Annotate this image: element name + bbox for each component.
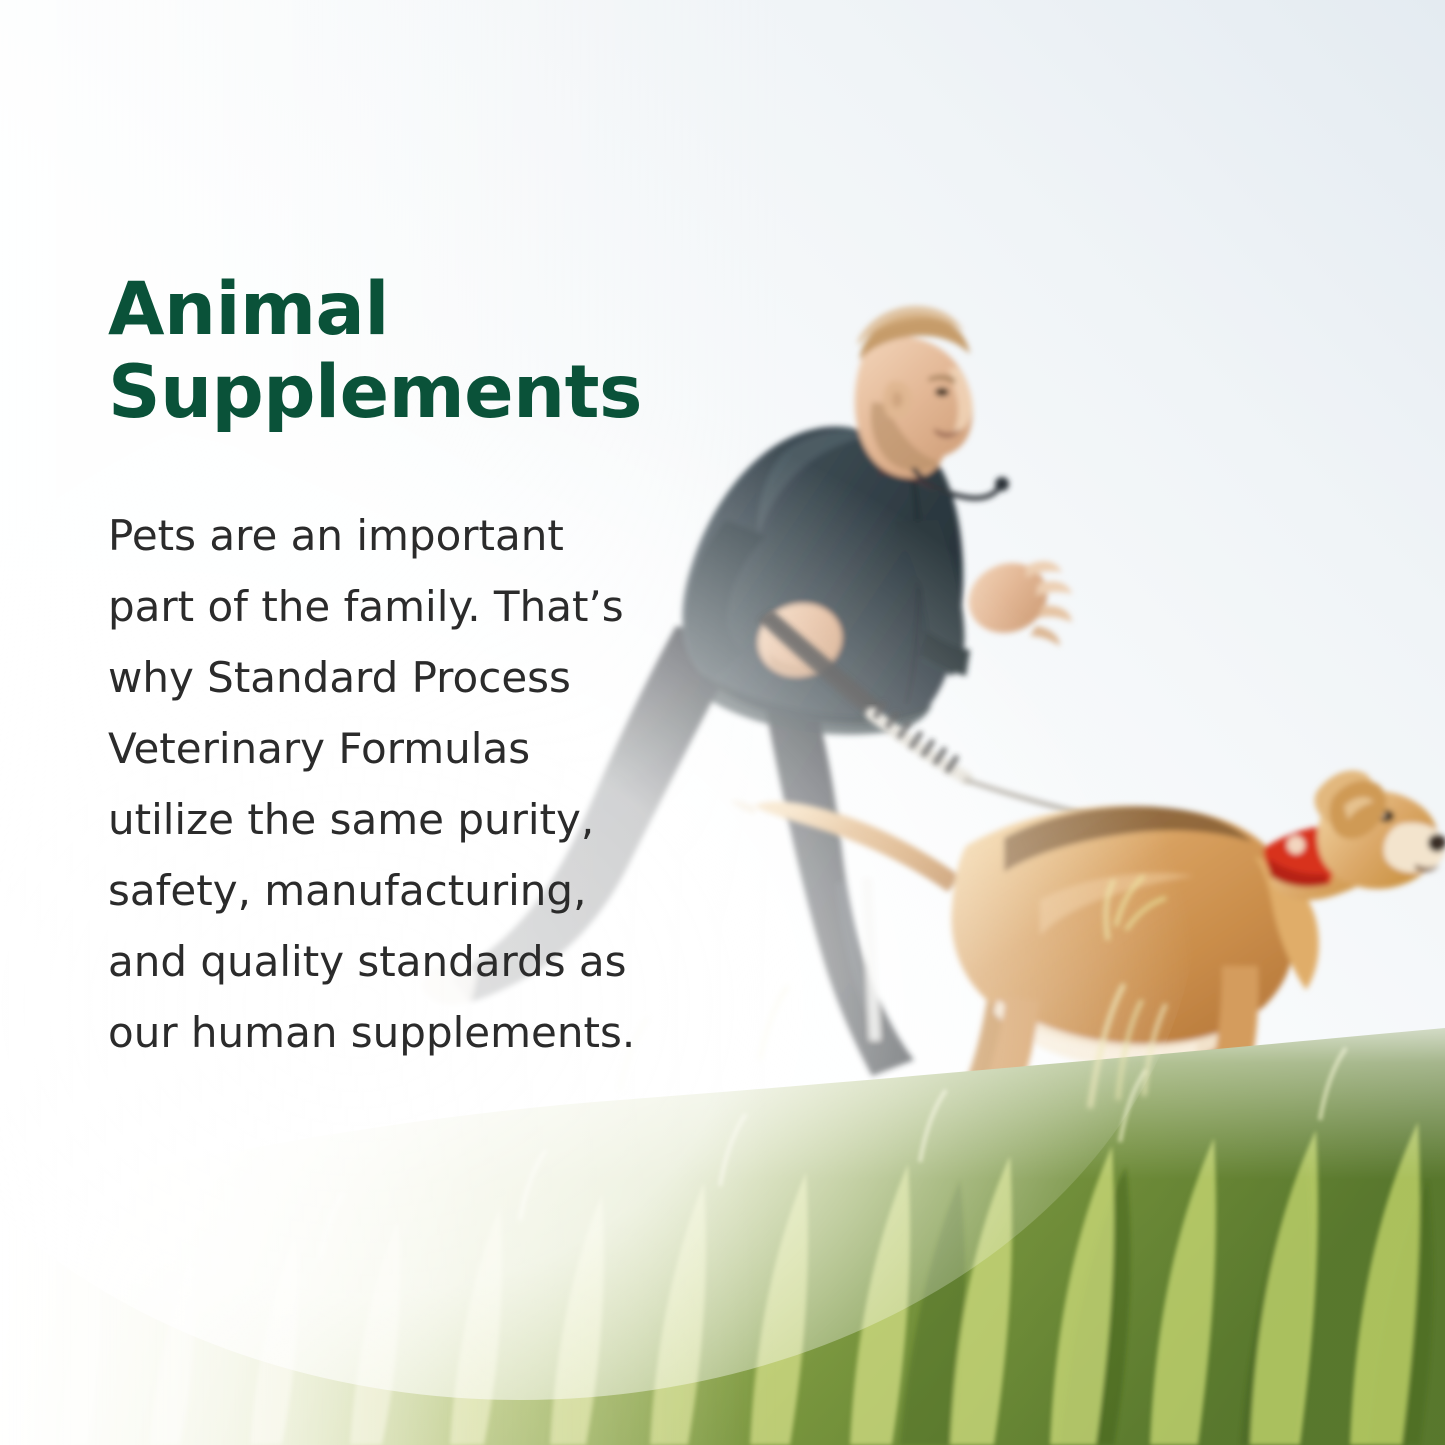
promo-banner: Animal Supplements Pets are an important…: [0, 0, 1445, 1445]
earphone-bud: [995, 477, 1009, 491]
dog-collar-tag: [1287, 836, 1305, 854]
runner-eye: [935, 388, 949, 397]
left-edge-haze: [0, 0, 780, 1445]
hero-photograph: [0, 0, 1445, 1445]
